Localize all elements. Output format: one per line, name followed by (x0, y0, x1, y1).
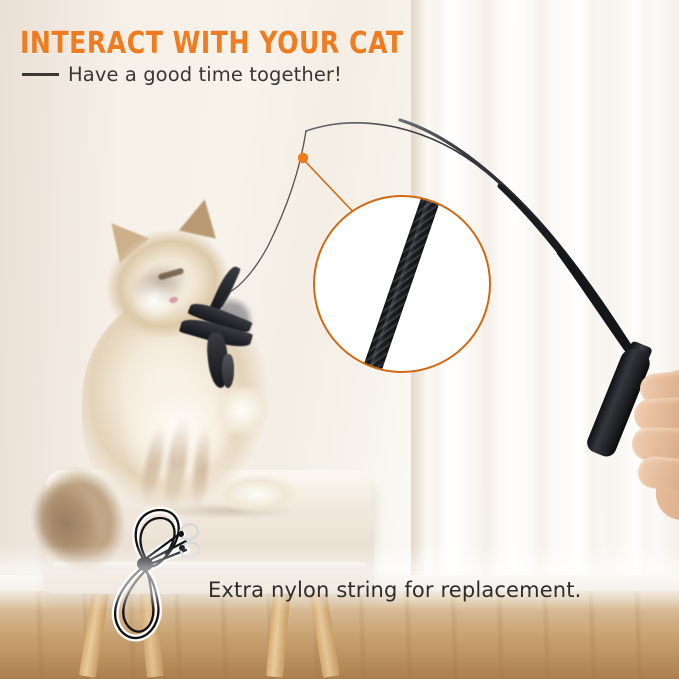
string-detail-marker-dot (298, 153, 308, 163)
subtitle-text: Have a good time together! (68, 63, 342, 86)
clip-bead (178, 531, 184, 537)
product-image-canvas: INTERACT WITH YOUR CAT Have a good time … (0, 0, 679, 679)
nylon-string (230, 131, 306, 292)
finger (637, 455, 679, 494)
finger (633, 396, 679, 432)
nylon-string-end (222, 292, 230, 306)
subtitle-row: Have a good time together! (22, 63, 342, 86)
page-title: INTERACT WITH YOUR CAT (20, 26, 404, 61)
braided-nylon-string-closeup (313, 195, 491, 373)
subtitle-dash-rule (22, 73, 59, 75)
caption-text: Extra nylon string for replacement. (208, 578, 581, 602)
human-hand-holding-wand (616, 352, 679, 552)
braided-cord-highlight (366, 195, 435, 373)
